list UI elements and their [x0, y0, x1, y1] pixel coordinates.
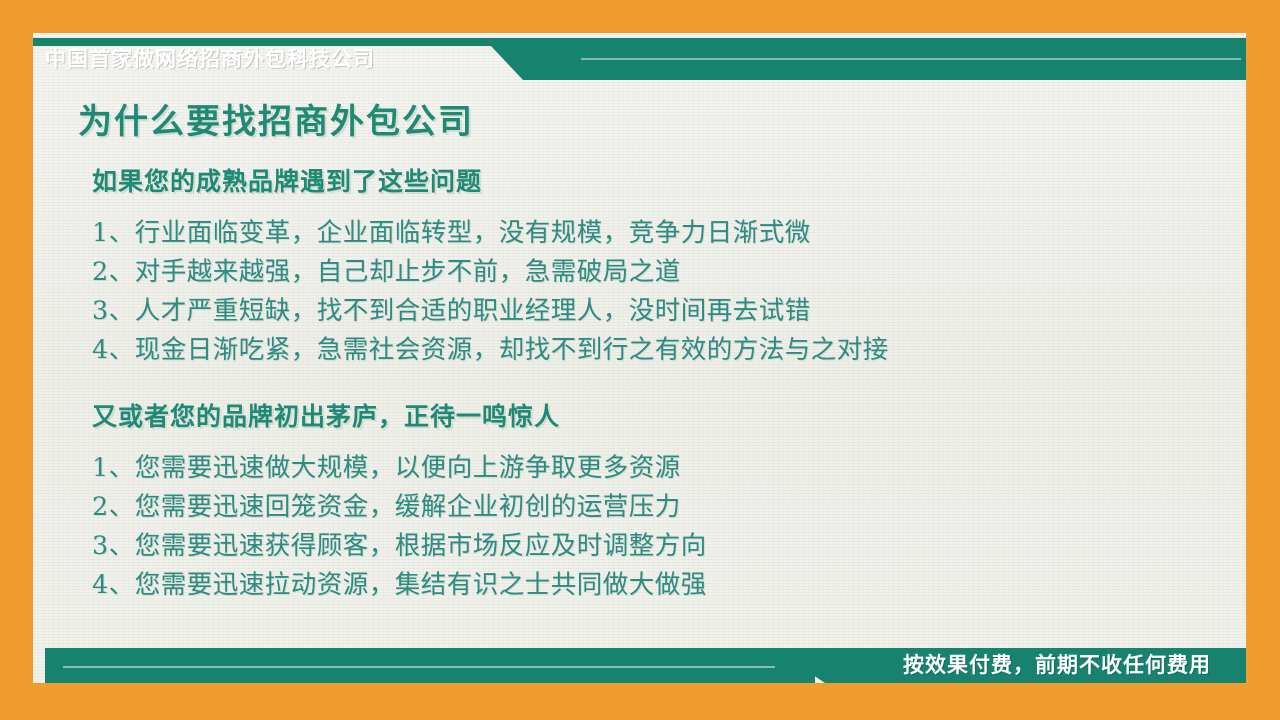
page-title: 为什么要找招商外包公司 [78, 104, 1246, 141]
footer-band: 按效果付费，前期不收任何费用 [33, 628, 1246, 683]
spacer [78, 370, 1246, 397]
newbrand-list: 1、您需要迅速做大规模，以便向上游争取更多资源 2、您需要迅速回笼资金，缓解企业… [92, 449, 1246, 605]
list-item: 1、行业面临变革，企业面临转型，没有规模，竞争力日渐式微 [92, 214, 1246, 253]
list-item: 3、人才严重短缺，找不到合适的职业经理人，没时间再去试错 [92, 292, 1246, 331]
slide-content: 为什么要找招商外包公司 如果您的成熟品牌遇到了这些问题 1、行业面临变革，企业面… [33, 92, 1246, 632]
header-rule-line [581, 58, 1241, 60]
spacer [78, 198, 1246, 214]
section-heading-problems: 如果您的成熟品牌遇到了这些问题 [92, 162, 1246, 198]
spacer [78, 141, 1246, 162]
footer-tagline: 按效果付费，前期不收任何费用 [903, 648, 1211, 683]
list-item: 4、您需要迅速拉动资源，集结有识之士共同做大做强 [92, 566, 1246, 605]
list-item: 3、您需要迅速获得顾客，根据市场反应及时调整方向 [92, 527, 1246, 566]
list-item: 1、您需要迅速做大规模，以便向上游争取更多资源 [92, 449, 1246, 488]
spacer [78, 433, 1246, 449]
list-item: 2、您需要迅速回笼资金，缓解企业初创的运营压力 [92, 488, 1246, 527]
section-heading-newbrand: 又或者您的品牌初出茅庐，正待一鸣惊人 [92, 397, 1246, 433]
footer-rule-line [63, 666, 775, 668]
list-item: 2、对手越来越强，自己却止步不前，急需破局之道 [92, 253, 1246, 292]
header-band: 中国首家做网络招商外包科技公司 [33, 38, 1246, 80]
header-tagline: 中国首家做网络招商外包科技公司 [45, 38, 375, 80]
problem-list: 1、行业面临变革，企业面临转型，没有规模，竞争力日渐式微 2、对手越来越强，自己… [92, 214, 1246, 370]
list-item: 4、现金日渐吃紧，急需社会资源，却找不到行之有效的方法与之对接 [92, 331, 1246, 370]
